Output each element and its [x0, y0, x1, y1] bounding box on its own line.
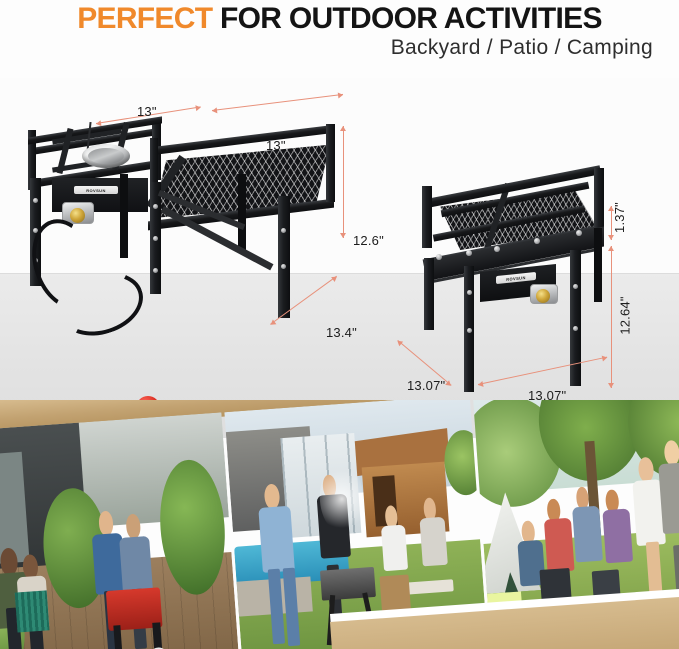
- dimlabel-left-depth: 13.4": [326, 325, 357, 340]
- brand-plate-left: ROVSUN: [74, 186, 118, 194]
- patio-person-torso-3: [381, 525, 409, 572]
- rivet-3: [534, 238, 540, 244]
- person-torso-4: [119, 535, 153, 594]
- dimlabel-right-depth: 13.07": [407, 378, 445, 393]
- dimlabel-right-top-thickness: 1.37": [612, 202, 627, 233]
- leg-hole-7: [281, 228, 286, 233]
- rivet-5: [436, 254, 442, 260]
- dimlabel-left-height: 12.6": [353, 233, 384, 248]
- leg-hole-8: [281, 264, 286, 269]
- leg-rear-right: [238, 174, 246, 250]
- dimlabel-left-width-top: 13": [137, 104, 157, 119]
- rivet-1: [466, 250, 472, 256]
- dimline-left-height: [343, 126, 344, 238]
- leg-front-right: [278, 196, 290, 318]
- title-rest: FOR OUTDOOR ACTIVITIES: [212, 2, 601, 35]
- product-stage: ROVSUN: [0, 78, 679, 438]
- right-leg-front-right: [570, 250, 581, 386]
- right-frame-edge-right: [594, 168, 604, 232]
- right-leg-hole-4: [573, 326, 578, 331]
- dimline-right-height: [611, 246, 612, 388]
- title-highlight: PERFECT: [77, 2, 212, 35]
- right-leg-left: [424, 258, 434, 330]
- photo-backyard: [0, 412, 239, 649]
- patio-person-torso-4: [419, 517, 447, 566]
- lifestyle-photo-band: [0, 400, 679, 649]
- right-leg-rear-right: [594, 228, 602, 302]
- camp-person-torso-2: [543, 518, 574, 572]
- leg-hole-4: [153, 204, 158, 209]
- backyard-chair: [15, 590, 50, 632]
- leg-hole-5: [153, 236, 158, 241]
- leg-hole-1: [33, 198, 38, 203]
- dimlabel-right-height: 12.64": [618, 296, 633, 334]
- rivet-2: [494, 246, 500, 252]
- subtitle: Backyard / Patio / Camping: [391, 36, 653, 60]
- rivet-4: [576, 230, 582, 236]
- side-table-edge-right: [326, 124, 335, 202]
- infographic-page: PERFECT FOR OUTDOOR ACTIVITIES Backyard …: [0, 0, 679, 649]
- burner-pot-inner: [88, 148, 124, 164]
- right-brass-fitting: [536, 289, 550, 303]
- dimline-left-table-width: [212, 94, 343, 111]
- patio-person-torso-1: [258, 505, 295, 572]
- camp-person-torso-4: [602, 509, 633, 563]
- leg-rear-mid: [120, 174, 128, 258]
- right-frame-edge-left: [422, 186, 432, 248]
- right-leg-hole-1: [467, 290, 472, 295]
- leg-hole-6: [153, 268, 158, 273]
- page-title: PERFECT FOR OUTDOOR ACTIVITIES: [0, 2, 679, 36]
- right-leg-hole-2: [467, 328, 472, 333]
- camp-person-torso-3: [572, 506, 603, 563]
- right-leg-hole-3: [573, 284, 578, 289]
- brass-fitting: [70, 208, 85, 223]
- header: PERFECT FOR OUTDOOR ACTIVITIES Backyard …: [0, 0, 679, 78]
- dimlabel-left-table-width: 13": [266, 138, 286, 153]
